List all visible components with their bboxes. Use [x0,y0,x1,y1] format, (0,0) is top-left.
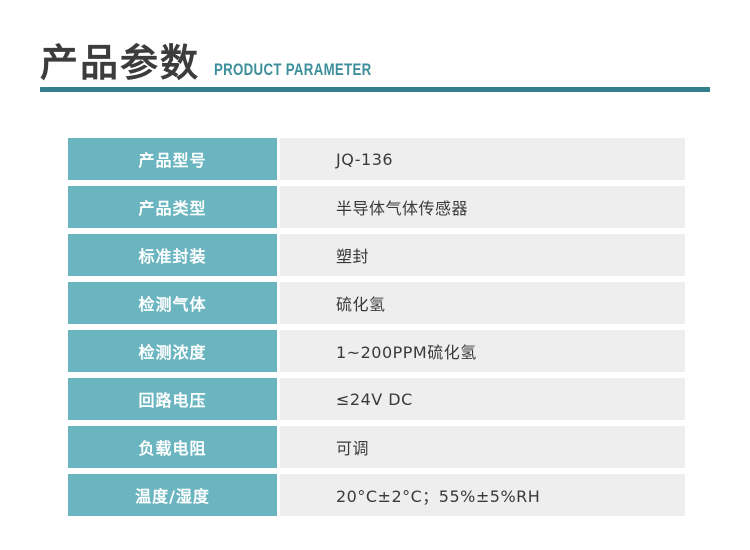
spec-value: JQ-136 [280,138,685,180]
table-row: 回路电压 ≤24V DC [68,378,685,420]
spec-label: 温度/湿度 [68,474,277,516]
table-row: 标准封装 塑封 [68,234,685,276]
table-row: 检测气体 硫化氢 [68,282,685,324]
table-row: 检测浓度 1~200PPM硫化氢 [68,330,685,372]
page-header: 产品参数 PRODUCT PARAMETER [40,26,710,94]
spec-label: 检测浓度 [68,330,277,372]
spec-value: 1~200PPM硫化氢 [280,330,685,372]
spec-label: 负载电阻 [68,426,277,468]
table-row: 产品型号 JQ-136 [68,138,685,180]
table-row: 负载电阻 可调 [68,426,685,468]
spec-label: 检测气体 [68,282,277,324]
spec-value: 可调 [280,426,685,468]
header-titles: 产品参数 PRODUCT PARAMETER [40,26,710,82]
table-row: 产品类型 半导体气体传感器 [68,186,685,228]
table-row: 温度/湿度 20°C±2°C；55%±5%RH [68,474,685,516]
spec-value: 硫化氢 [280,282,685,324]
specification-table: 产品型号 JQ-136 产品类型 半导体气体传感器 标准封装 塑封 检测气体 硫… [68,138,685,516]
spec-value: 塑封 [280,234,685,276]
spec-value: 20°C±2°C；55%±5%RH [280,474,685,516]
spec-label: 产品型号 [68,138,277,180]
spec-value: ≤24V DC [280,378,685,420]
spec-label: 标准封装 [68,234,277,276]
spec-label: 产品类型 [68,186,277,228]
page-subtitle: PRODUCT PARAMETER [214,61,372,78]
product-parameter-page: 产品参数 PRODUCT PARAMETER 产品型号 JQ-136 产品类型 … [0,0,750,550]
header-divider [40,87,710,92]
spec-value: 半导体气体传感器 [280,186,685,228]
spec-label: 回路电压 [68,378,277,420]
page-title: 产品参数 [40,44,200,82]
